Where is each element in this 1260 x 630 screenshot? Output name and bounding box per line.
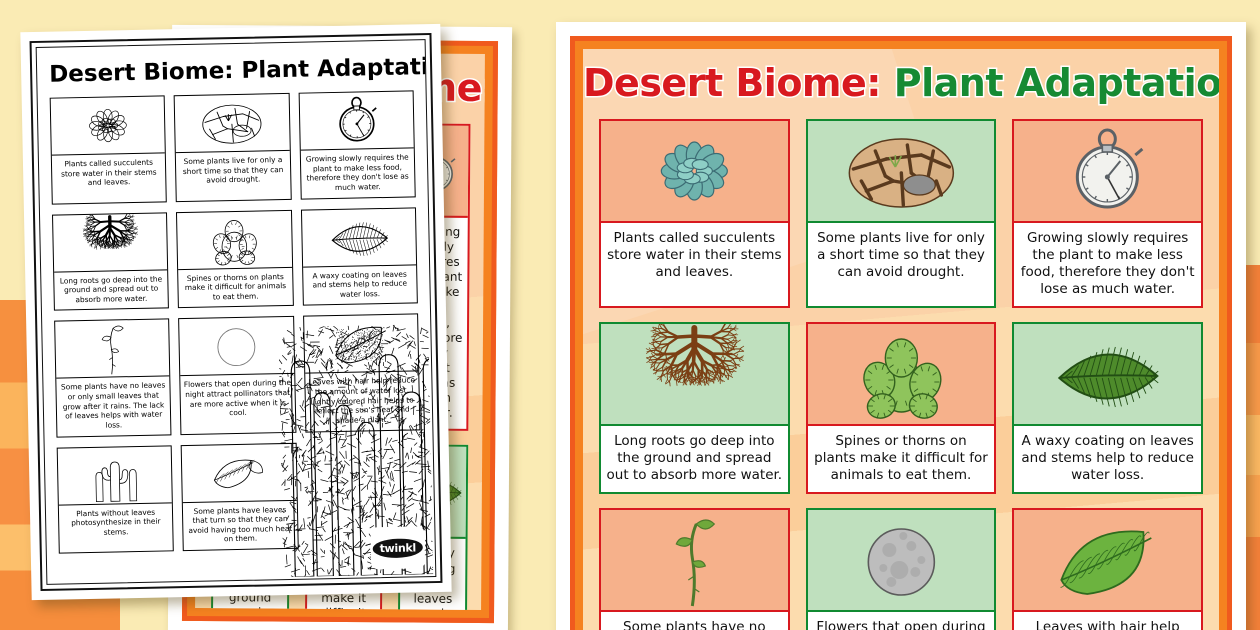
adaptation-card[interactable]: Leaves with hair help reduce the amount …	[1012, 508, 1203, 630]
adaptation-card[interactable]: Long roots go deep into the ground and s…	[599, 322, 790, 494]
poster-desert-biome-plant-adaptations[interactable]: Desert Biome: Plant Adaptations Plants c…	[556, 22, 1246, 630]
adaptation-card[interactable]: A waxy coating on leaves and stems help …	[1012, 322, 1203, 494]
stopwatch-icon	[299, 91, 413, 150]
adaptation-card[interactable]: Growing slowly requires the plant to mak…	[1012, 119, 1203, 308]
tree-roots-icon	[601, 324, 788, 426]
full-moon-icon	[179, 317, 293, 376]
cracked-dry-earth-icon	[175, 94, 289, 153]
cracked-dry-earth-icon	[808, 121, 995, 223]
twinkl-watermark: twinkl	[370, 526, 425, 569]
worksheet-title: Desert Biome: Plant Adaptations	[49, 54, 413, 87]
worksheet-card-text: Some plants have leaves that turn so tha…	[183, 500, 297, 550]
worksheet-card-text: Some plants have no leaves or only small…	[56, 377, 170, 436]
worksheet-card[interactable]: Growing slowly requires the plant to mak…	[298, 90, 415, 199]
title-part-two: Plant Adaptations	[894, 61, 1219, 105]
worksheet-card[interactable]: Plants called succulents store water in …	[50, 95, 167, 204]
hairy-leaf-icon	[1014, 510, 1201, 612]
worksheet-card[interactable]: Spines or thorns on plants make it diffi…	[176, 209, 293, 308]
sheet-outer-border: Desert Biome: Plant Adaptations Plants c…	[30, 33, 443, 591]
worksheet-card[interactable]: Long roots go deep into the ground and s…	[52, 212, 169, 311]
worksheet-card-text: Plants without leaves photosynthesize in…	[59, 503, 173, 553]
worksheet-card-text: Plants called succulents store water in …	[52, 153, 166, 203]
sheet-inner-border: Desert Biome: Plant Adaptations Plants c…	[36, 39, 437, 585]
poster-field: Desert Biome: Plant Adaptations Plants c…	[583, 49, 1219, 630]
adaptation-card[interactable]: Spines or thorns on plants make it diffi…	[806, 322, 997, 494]
adaptation-card-text: Spines or thorns on plants make it diffi…	[808, 426, 995, 492]
adaptation-card[interactable]: Flowers that open during the night attra…	[806, 508, 997, 630]
adaptation-card[interactable]: Some plants live for only a short time s…	[806, 119, 997, 308]
adaptation-card-text: Leaves with hair help reduce the amount …	[1014, 612, 1201, 630]
worksheet-card-text: Growing slowly requires the plant to mak…	[300, 148, 414, 198]
prickly-pear-cactus-icon	[808, 324, 995, 426]
bare-stem-icon	[55, 320, 169, 379]
worksheet-card[interactable]: Plants without leaves photosynthesize in…	[57, 445, 174, 554]
worksheet-card-text: A waxy coating on leaves and stems help …	[303, 265, 417, 305]
full-moon-icon	[808, 510, 995, 612]
adaptation-card-text: Growing slowly requires the plant to mak…	[1014, 223, 1201, 306]
worksheet-card[interactable]: Some plants live for only a short time s…	[174, 93, 291, 202]
adaptation-card-text: Some plants live for only a short time s…	[808, 223, 995, 306]
worksheet-card-text: Some plants live for only a short time s…	[176, 151, 290, 201]
waxy-leaf-icon	[1014, 324, 1201, 426]
tree-roots-icon	[53, 213, 167, 272]
adaptation-card[interactable]: Plants called succulents store water in …	[599, 119, 790, 308]
poster-frame: Desert Biome: Plant Adaptations Plants c…	[570, 36, 1232, 630]
adaptation-card[interactable]: Some plants have no leaves or only small…	[599, 508, 790, 630]
twinkl-logo-text: twinkl	[372, 538, 423, 558]
saguaro-cactus-icon	[58, 446, 172, 505]
adaptation-card-text: Plants called succulents store water in …	[601, 223, 788, 306]
page-title: Desert Biome: Plant Adaptations	[583, 61, 1219, 105]
stopwatch-icon	[1014, 121, 1201, 223]
succulent-rosette-icon	[51, 96, 165, 155]
worksheet-card-text: Long roots go deep into the ground and s…	[54, 270, 168, 310]
prickly-pear-cactus-icon	[177, 210, 291, 269]
adaptation-card-text: Some plants have no leaves or only small…	[601, 612, 788, 630]
worksheet-card-text: Flowers that open during the night attra…	[181, 374, 295, 433]
worksheet-card[interactable]: A waxy coating on leaves and stems help …	[301, 207, 418, 306]
bare-stem-icon	[601, 510, 788, 612]
adaptation-card-text: Long roots go deep into the ground and s…	[601, 426, 788, 492]
adaptation-card-text: Flowers that open during the night attra…	[808, 612, 995, 630]
title-part-one: Desert Biome:	[583, 61, 881, 105]
adaptation-card-text: A waxy coating on leaves and stems help …	[1014, 426, 1201, 492]
succulent-rosette-icon	[601, 121, 788, 223]
waxy-leaf-icon	[302, 208, 416, 267]
card-grid: Plants called succulents store water in …	[599, 119, 1203, 630]
worksheet-card-text: Spines or thorns on plants make it diffi…	[178, 267, 292, 307]
blackwhite-worksheet[interactable]: Desert Biome: Plant Adaptations Plants c…	[20, 24, 451, 600]
worksheet-card[interactable]: Some plants have no leaves or only small…	[54, 319, 172, 437]
turning-leaf-icon	[182, 443, 296, 502]
